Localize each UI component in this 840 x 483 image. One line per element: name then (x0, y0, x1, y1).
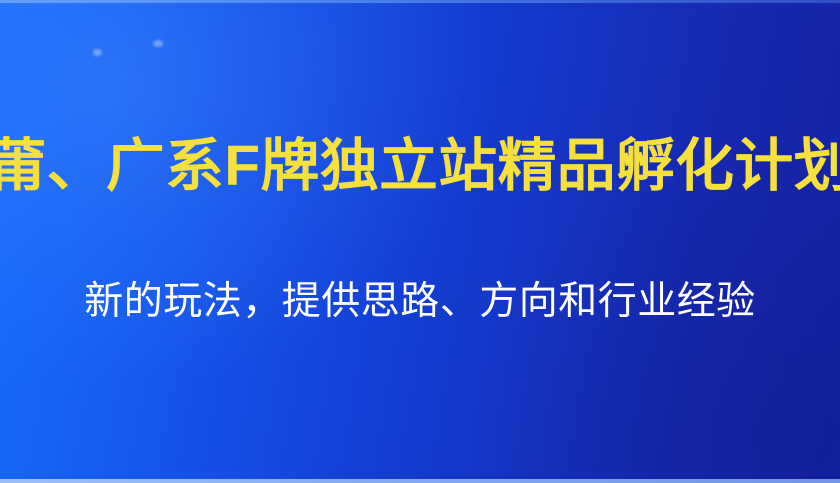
banner-content: 莆、广系F牌独立站精品孵化计划 新的玩法，提供思路、方向和行业经验 (0, 0, 840, 483)
banner-headline: 莆、广系F牌独立站精品孵化计划 (0, 131, 840, 201)
promo-banner: 莆、广系F牌独立站精品孵化计划 新的玩法，提供思路、方向和行业经验 (0, 0, 840, 483)
banner-subheadline: 新的玩法，提供思路、方向和行业经验 (0, 276, 840, 328)
